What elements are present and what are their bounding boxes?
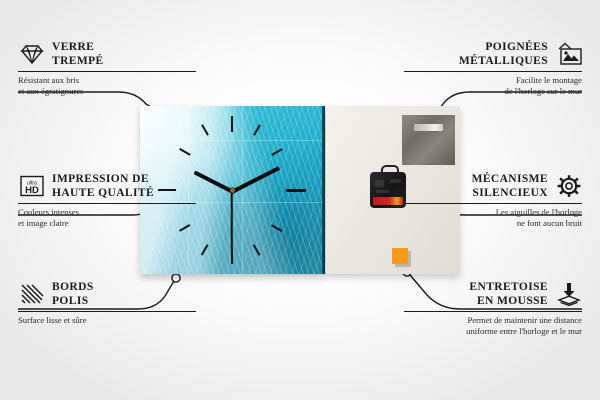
- hanger-slot: [414, 124, 443, 131]
- feature-mecanisme-silencieux[interactable]: MÉCANISME SILENCIEUX: [404, 172, 582, 230]
- metal-hanger-thumbnail: [402, 115, 455, 165]
- feature-title-line2: EN MOUSSE: [469, 294, 548, 308]
- feature-rule: [18, 203, 196, 204]
- feature-title-line2: HAUTE QUALITÉ: [52, 186, 154, 200]
- feature-title-line2: TREMPÉ: [52, 54, 104, 68]
- feature-verre-trempe[interactable]: VERRE TREMPÉ Résistant aux bris et aux é…: [18, 40, 196, 98]
- feature-desc-line2: ne font aucun bruit: [404, 218, 582, 229]
- clock-minute-hand: [231, 166, 280, 194]
- feature-title-line1: ENTRETOISE: [469, 280, 548, 294]
- feature-title-line2: SILENCIEUX: [472, 186, 548, 200]
- feature-rule: [404, 71, 582, 72]
- feature-rule: [18, 311, 196, 312]
- feature-desc-line1: Permet de maintenir une distance: [404, 315, 582, 326]
- ultra-hd-big-label: HD: [25, 185, 39, 196]
- gear-icon: [555, 174, 582, 198]
- clock-hour-hand: [194, 170, 233, 193]
- feature-title-line2: POLIS: [52, 294, 94, 308]
- feature-desc-line1: Les aiguilles de l'horloge: [404, 207, 582, 218]
- feature-poignees-metalliques[interactable]: POIGNÉES MÉTALLIQUES Facilite le montage…: [404, 40, 582, 98]
- feature-title-line1: MÉCANISME: [472, 172, 548, 186]
- feature-bords-polis[interactable]: BORDS POLIS Surface lisse et sûre: [18, 280, 196, 326]
- glass-edge: [322, 106, 325, 274]
- feature-desc-line1: Résistant aux bris: [18, 75, 196, 86]
- feature-impression-haute-qualite[interactable]: ultra HD IMPRESSION DE HAUTE QUALITÉ Cou…: [18, 172, 196, 230]
- feature-desc-line2: et aux égratignures: [18, 86, 196, 97]
- feature-entretoise-en-mousse[interactable]: ENTRETOISE EN MOUSSE Permet de maintenir…: [404, 280, 582, 338]
- feature-title-line1: IMPRESSION DE: [52, 172, 154, 186]
- diagonal-lines-icon: [18, 282, 45, 306]
- arrow-down-layers-icon: [555, 282, 582, 306]
- diamond-icon: [18, 42, 45, 66]
- infographic-canvas: VERRE TREMPÉ Résistant aux bris et aux é…: [0, 0, 600, 400]
- feature-title-line1: VERRE: [52, 40, 104, 54]
- feature-desc-line1: Surface lisse et sûre: [18, 315, 196, 326]
- feature-rule: [404, 311, 582, 312]
- feature-desc-line1: Couleurs intenses: [18, 207, 196, 218]
- feature-desc-line1: Facilite le montage: [404, 75, 582, 86]
- clock-center-pin: [230, 188, 235, 193]
- picture-frame-hanger-icon: [555, 42, 582, 66]
- feature-title-line1: BORDS: [52, 280, 94, 294]
- feature-desc-line2: uniforme entre l'horloge et le mur: [404, 326, 582, 337]
- mechanism-hanging-loop: [381, 165, 399, 176]
- feature-desc-line2: et image claire: [18, 218, 196, 229]
- feature-title-line1: POIGNÉES: [459, 40, 548, 54]
- feature-title-line2: MÉTALLIQUES: [459, 54, 548, 68]
- feature-desc-line2: de l'horloge sur le mur: [404, 86, 582, 97]
- foam-spacer-thumbnail: [392, 248, 408, 264]
- feature-rule: [18, 71, 196, 72]
- clock-mechanism-box: [370, 172, 406, 208]
- feature-rule: [404, 203, 582, 204]
- mechanism-battery: [373, 197, 403, 205]
- ultra-hd-icon: ultra HD: [18, 174, 45, 198]
- clock-second-hand: [231, 191, 233, 249]
